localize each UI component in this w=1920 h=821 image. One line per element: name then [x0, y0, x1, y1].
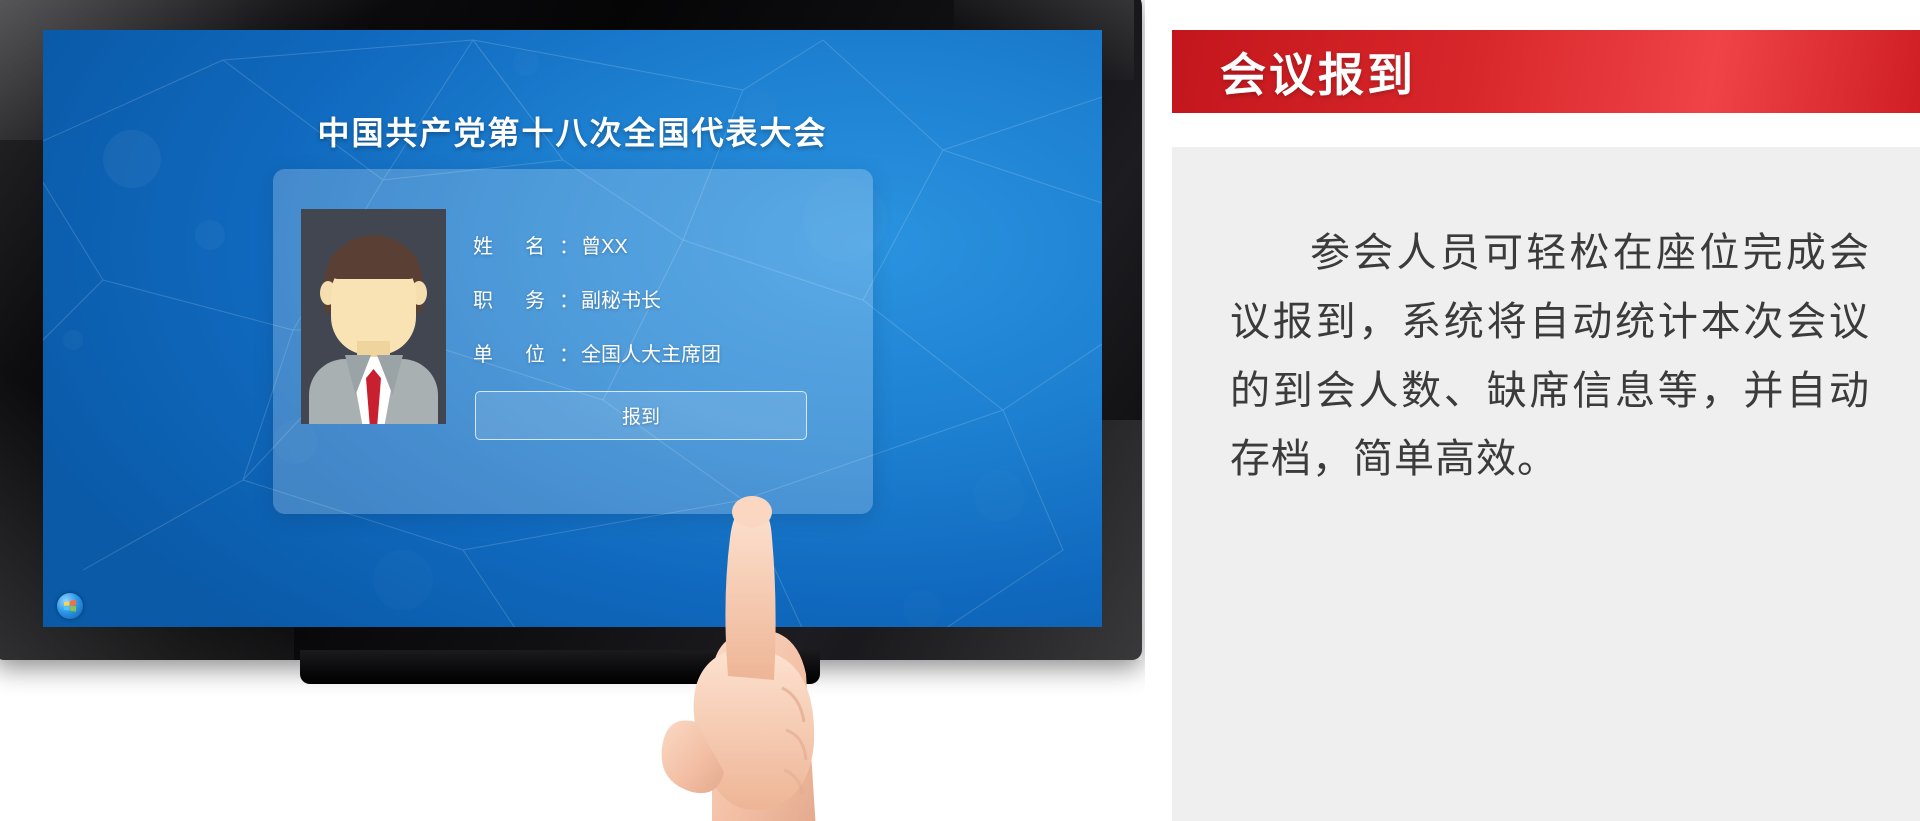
attendee-photo	[301, 209, 446, 424]
bokeh-circle	[373, 550, 433, 610]
field-label-unit: 单 位	[473, 338, 559, 367]
slide-root: 中国共产党第十八次全国代表大会	[0, 0, 1920, 821]
description-column: 会议报到 参会人员可轻松在座位完成会议报到，系统将自动统计本次会议的到会人数、缺…	[1145, 0, 1920, 821]
field-colon-unit: ：	[559, 338, 581, 367]
field-label-name: 姓 名	[473, 230, 559, 259]
field-row-name: 姓 名 ： 曾XX	[473, 217, 721, 271]
bokeh-circle	[63, 330, 83, 350]
banner-title: 会议报到	[1220, 39, 1416, 105]
description-panel: 参会人员可轻松在座位完成会议报到，系统将自动统计本次会议的到会人数、缺席信息等，…	[1172, 147, 1920, 821]
description-text: 参会人员可轻松在座位完成会议报到，系统将自动统计本次会议的到会人数、缺席信息等，…	[1230, 219, 1870, 494]
field-value-name: 曾XX	[581, 230, 628, 259]
bokeh-circle	[973, 470, 1025, 522]
section-banner: 会议报到	[1172, 30, 1920, 113]
bokeh-circle	[903, 590, 941, 627]
field-value-unit: 全国人大主席团	[581, 338, 721, 367]
field-value-position: 副秘书长	[581, 284, 661, 313]
attendee-fields: 姓 名 ： 曾XX 职 务 ： 副秘书长 单 位 ： 全国人大主席团	[473, 217, 721, 379]
field-row-position: 职 务 ： 副秘书长	[473, 271, 721, 325]
field-colon-name: ：	[559, 230, 581, 259]
device-photo: 中国共产党第十八次全国代表大会	[0, 0, 1145, 821]
avatar-fringe	[328, 247, 419, 279]
field-row-unit: 单 位 ： 全国人大主席团	[473, 325, 721, 379]
display-screen: 中国共产党第十八次全国代表大会	[43, 30, 1102, 627]
pointing-hand-icon	[600, 430, 900, 821]
windows-start-orb-icon[interactable]	[57, 593, 83, 619]
bokeh-circle	[513, 50, 539, 76]
page-title: 中国共产党第十八次全国代表大会	[43, 108, 1102, 154]
bokeh-circle	[195, 220, 225, 250]
field-colon-position: ：	[559, 284, 581, 313]
field-label-position: 职 务	[473, 284, 559, 313]
windows-flag-icon	[63, 599, 77, 613]
